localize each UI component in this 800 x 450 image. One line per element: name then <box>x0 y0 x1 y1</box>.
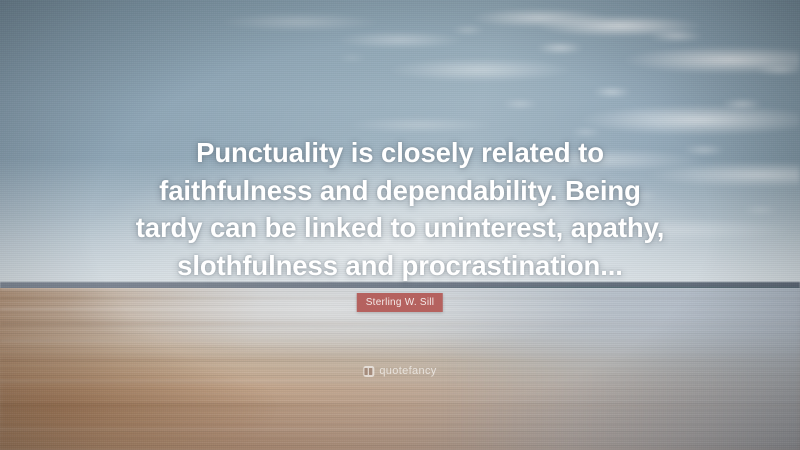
quote-wallpaper: Punctuality is closely related to faithf… <box>0 0 800 450</box>
quote-line-3: tardy can be linked to uninterest, apath… <box>0 209 800 247</box>
quote-line-1: Punctuality is closely related to <box>0 134 800 172</box>
watermark-brand: quotefancy <box>379 366 436 377</box>
author-badge[interactable]: Sterling W. Sill <box>357 293 443 312</box>
quote-line-2: faithfulness and dependability. Being <box>0 172 800 210</box>
quote-text: Punctuality is closely related to faithf… <box>0 134 800 284</box>
quote-line-4: slothfulness and procrastination... <box>0 247 800 285</box>
watermark[interactable]: quotefancy <box>363 366 436 377</box>
quote-mark-icon <box>363 366 374 377</box>
